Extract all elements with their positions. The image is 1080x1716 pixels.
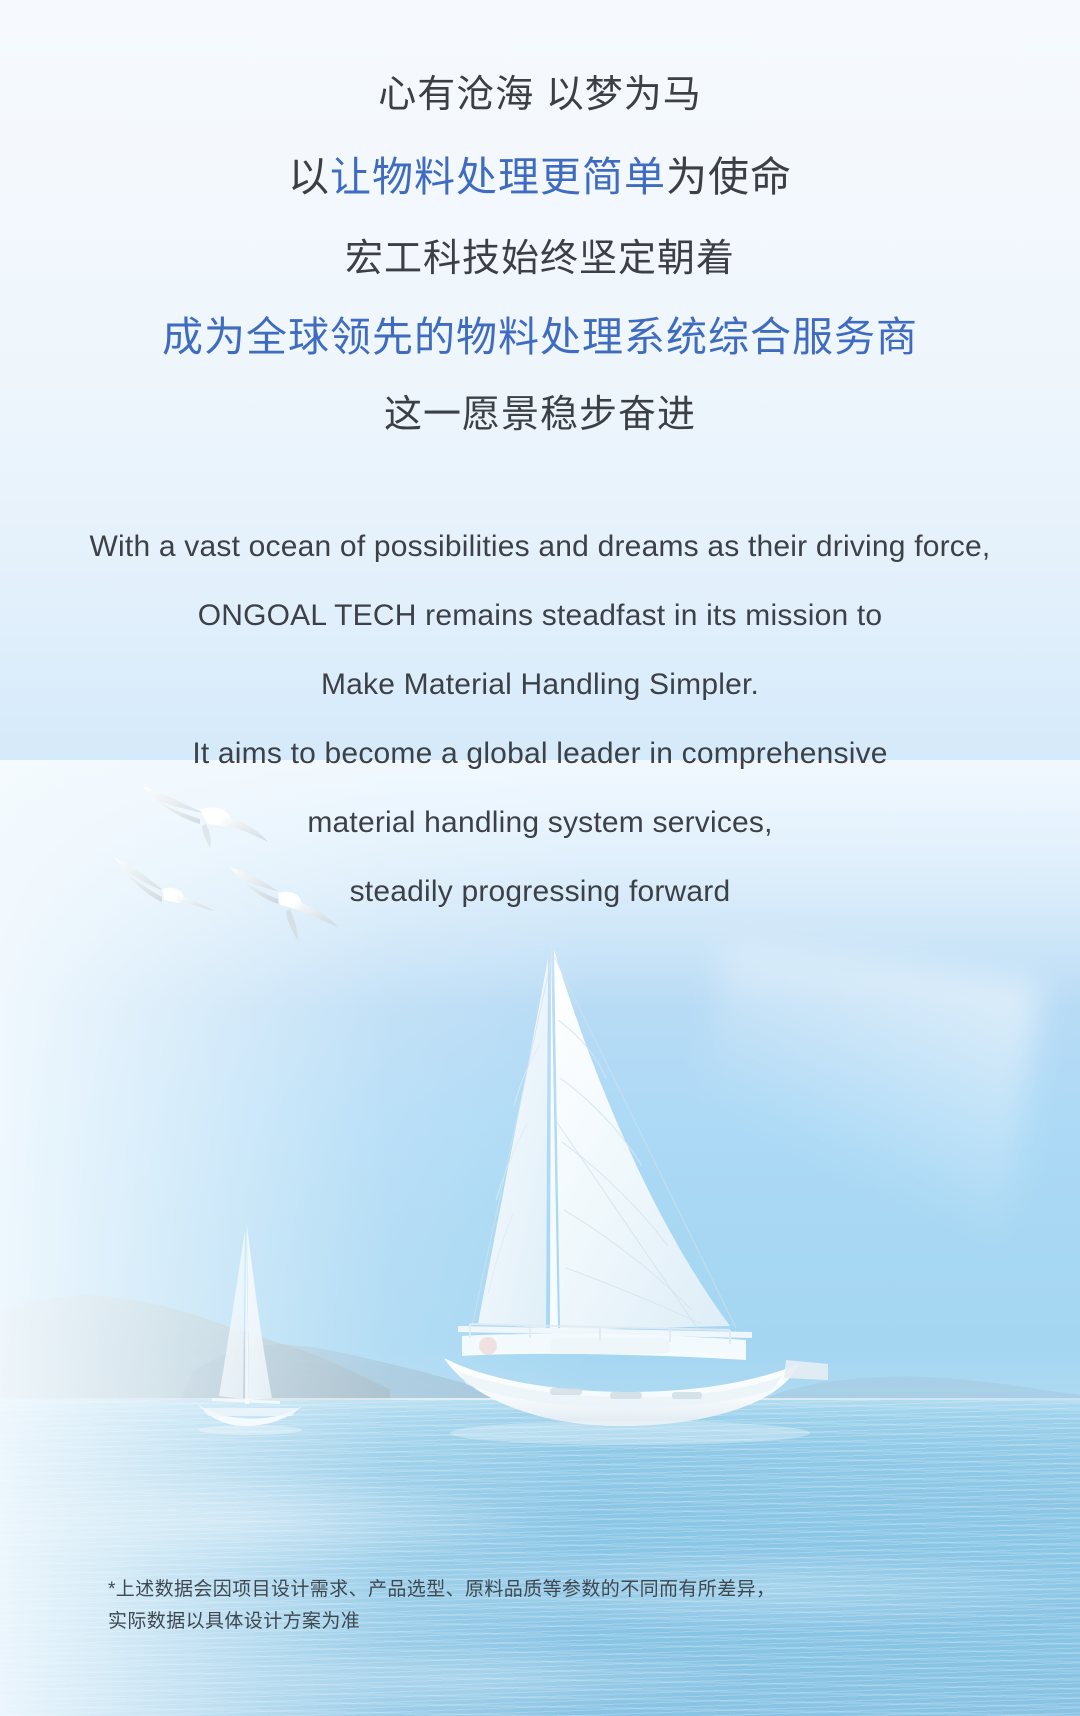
english-line-5: material handling system services, <box>0 788 1080 857</box>
headline-line-3: 宏工科技始终坚定朝着 <box>0 220 1080 298</box>
footnote-line-1: *上述数据会因项目设计需求、产品选型、原料品质等参数的不同而有所差异， <box>108 1574 968 1606</box>
footnote-line-2: 实际数据以具体设计方案为准 <box>108 1606 968 1638</box>
headline-line-1: 心有沧海 以梦为马 <box>0 56 1080 134</box>
chinese-headline-block: 心有沧海 以梦为马 以让物料处理更简单为使命 宏工科技始终坚定朝着 成为全球领先… <box>0 56 1080 454</box>
headline-line-4: 成为全球领先的物料处理系统综合服务商 <box>0 298 1080 376</box>
headline-line-2-prefix: 以 <box>288 154 330 200</box>
headline-line-2-accent: 让物料处理更简单 <box>330 154 666 200</box>
english-line-2: ONGOAL TECH remains steadfast in its mis… <box>0 581 1080 650</box>
english-paragraph-block: With a vast ocean of possibilities and d… <box>0 512 1080 926</box>
headline-line-2-suffix: 为使命 <box>666 154 792 200</box>
english-line-3: Make Material Handling Simpler. <box>0 650 1080 719</box>
headline-line-2: 以让物料处理更简单为使命 <box>0 134 1080 220</box>
headline-line-5: 这一愿景稳步奋进 <box>0 376 1080 454</box>
promotional-poster: 心有沧海 以梦为马 以让物料处理更简单为使命 宏工科技始终坚定朝着 成为全球领先… <box>0 0 1080 1716</box>
english-line-1: With a vast ocean of possibilities and d… <box>0 512 1080 581</box>
english-line-4: It aims to become a global leader in com… <box>0 719 1080 788</box>
footnote-disclaimer: *上述数据会因项目设计需求、产品选型、原料品质等参数的不同而有所差异， 实际数据… <box>108 1574 968 1638</box>
english-line-6: steadily progressing forward <box>0 857 1080 926</box>
